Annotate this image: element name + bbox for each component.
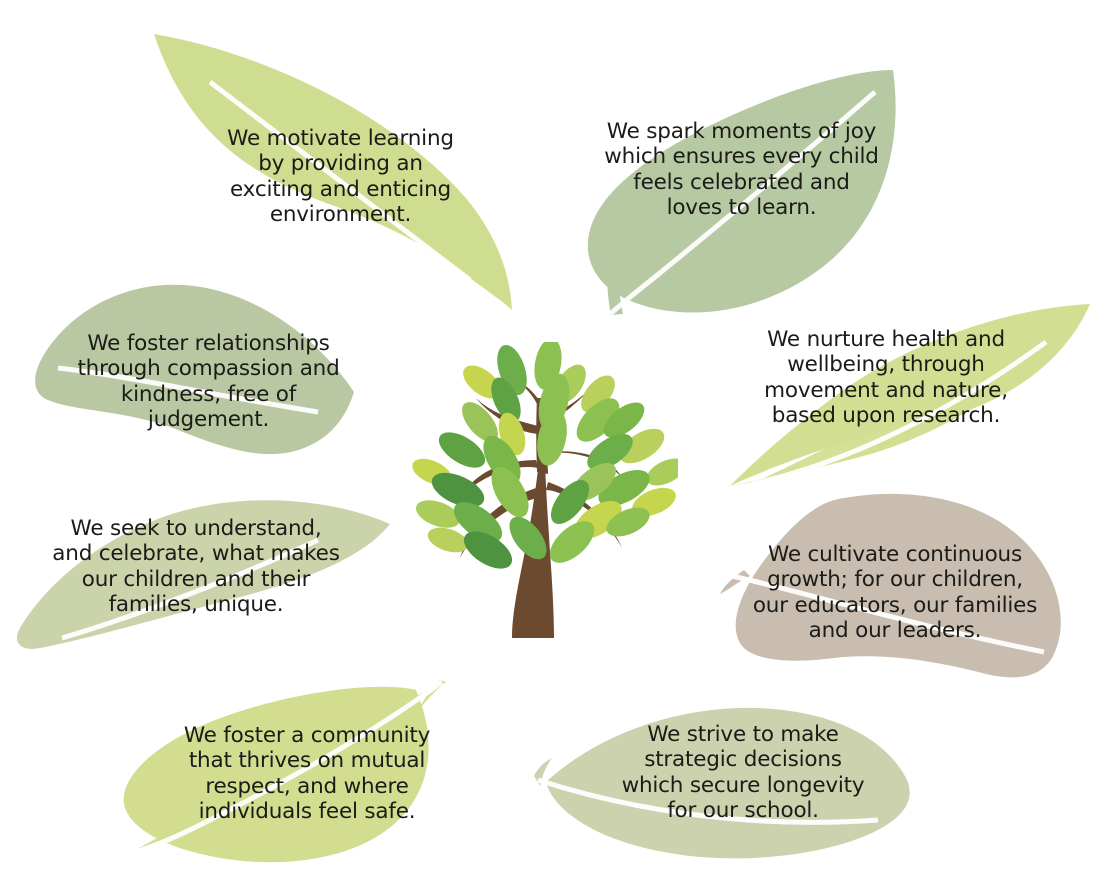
leaf-text: We motivate learning by providing an exc… (188, 126, 493, 227)
leaf-text: We strive to make strategic decisions wh… (608, 722, 878, 823)
values-infographic-canvas: We motivate learning by providing an exc… (0, 0, 1110, 886)
leaf-text: We cultivate continuous growth; for our … (734, 542, 1056, 643)
tree-foliage (408, 342, 678, 576)
tree-icon (402, 342, 678, 648)
leaf-text: We seek to understand, and celebrate, wh… (36, 516, 356, 617)
value-leaf-nurture-wellbeing: We nurture health and wellbeing, through… (706, 290, 1096, 490)
value-leaf-spark-joy: We spark moments of joy which ensures ev… (575, 62, 905, 322)
value-leaf-strategic-decisions: We strive to make strategic decisions wh… (528, 694, 918, 874)
leaf-text: We foster a community that thrives on mu… (160, 723, 454, 824)
leaf-text: We spark moments of joy which ensures ev… (599, 119, 884, 220)
value-leaf-seek-to-understand: We seek to understand, and celebrate, wh… (6, 476, 396, 666)
value-leaf-foster-relationships: We foster relationships through compassi… (18, 272, 358, 472)
tree-illustration (402, 342, 678, 648)
leaf-text: We foster relationships through compassi… (66, 331, 351, 432)
leaf-text: We nurture health and wellbeing, through… (736, 327, 1036, 428)
value-leaf-cultivate-growth: We cultivate continuous growth; for our … (714, 484, 1074, 684)
value-leaf-foster-community: We foster a community that thrives on mu… (110, 676, 470, 866)
